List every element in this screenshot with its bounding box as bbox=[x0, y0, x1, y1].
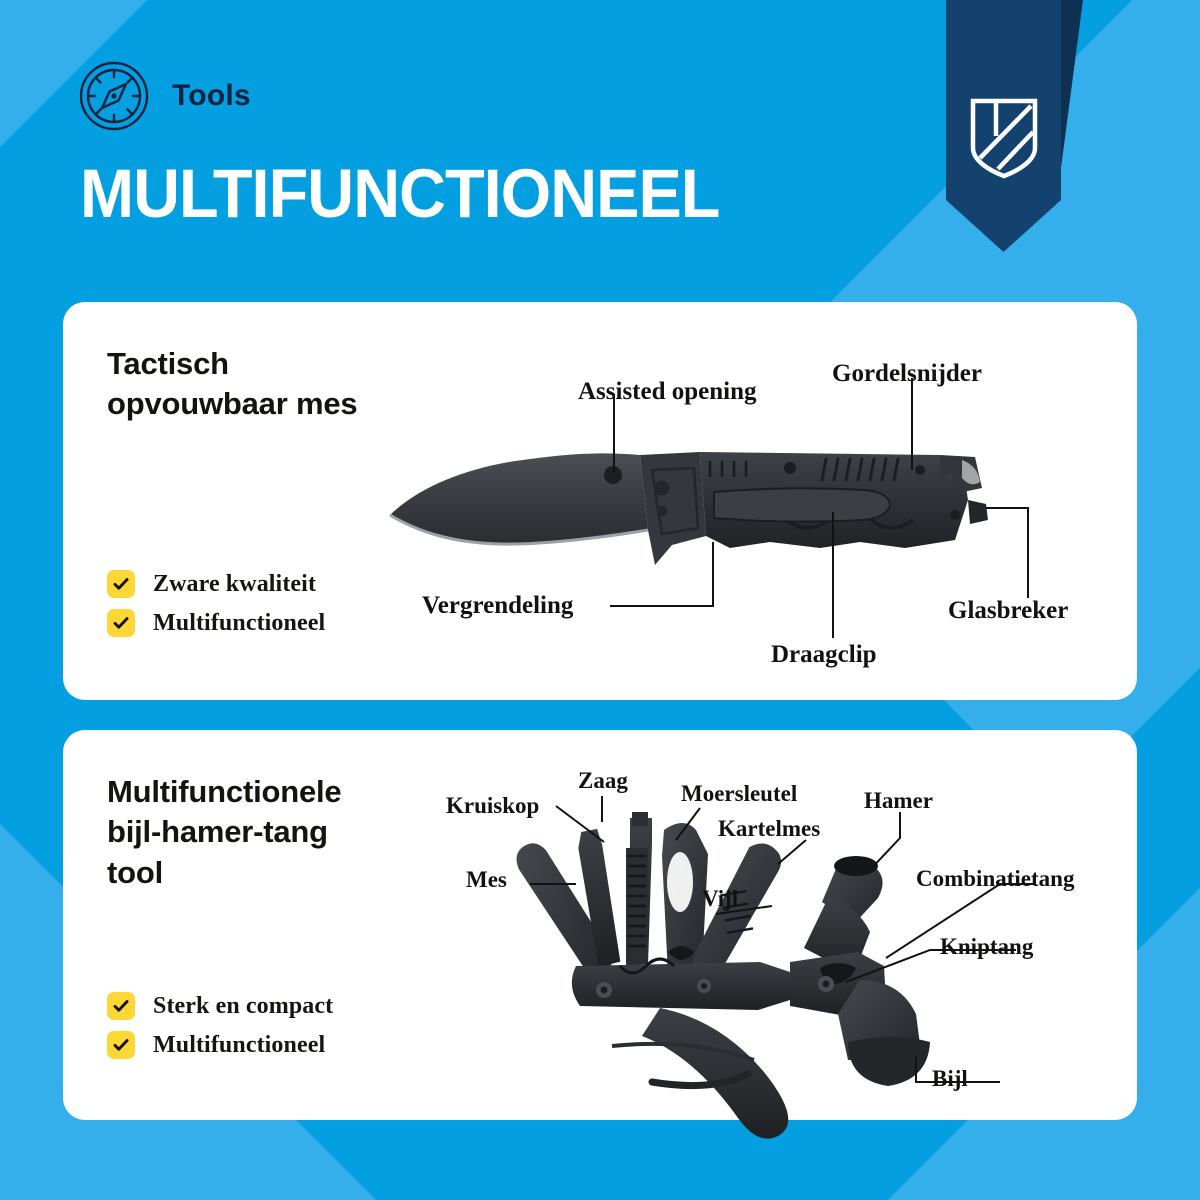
callout-hamer: Hamer bbox=[864, 788, 933, 814]
callout-kruiskop: Kruiskop bbox=[446, 793, 539, 819]
callout-combinatietang: Combinatietang bbox=[916, 866, 1074, 892]
callout-kartelmes: Kartelmes bbox=[718, 816, 820, 842]
callout-bijl: Bijl bbox=[932, 1066, 968, 1092]
multitool-illustration bbox=[514, 812, 930, 1139]
callout-zaag: Zaag bbox=[578, 768, 628, 794]
diagram-multitool: Kruiskop Zaag Moersleutel Kartelmes Mes … bbox=[0, 0, 1200, 1200]
callout-kniptang: Kniptang bbox=[940, 934, 1033, 960]
callout-mes: Mes bbox=[466, 867, 507, 893]
callout-moersleutel: Moersleutel bbox=[681, 781, 797, 807]
callout-vijl: Vijl bbox=[702, 886, 738, 912]
